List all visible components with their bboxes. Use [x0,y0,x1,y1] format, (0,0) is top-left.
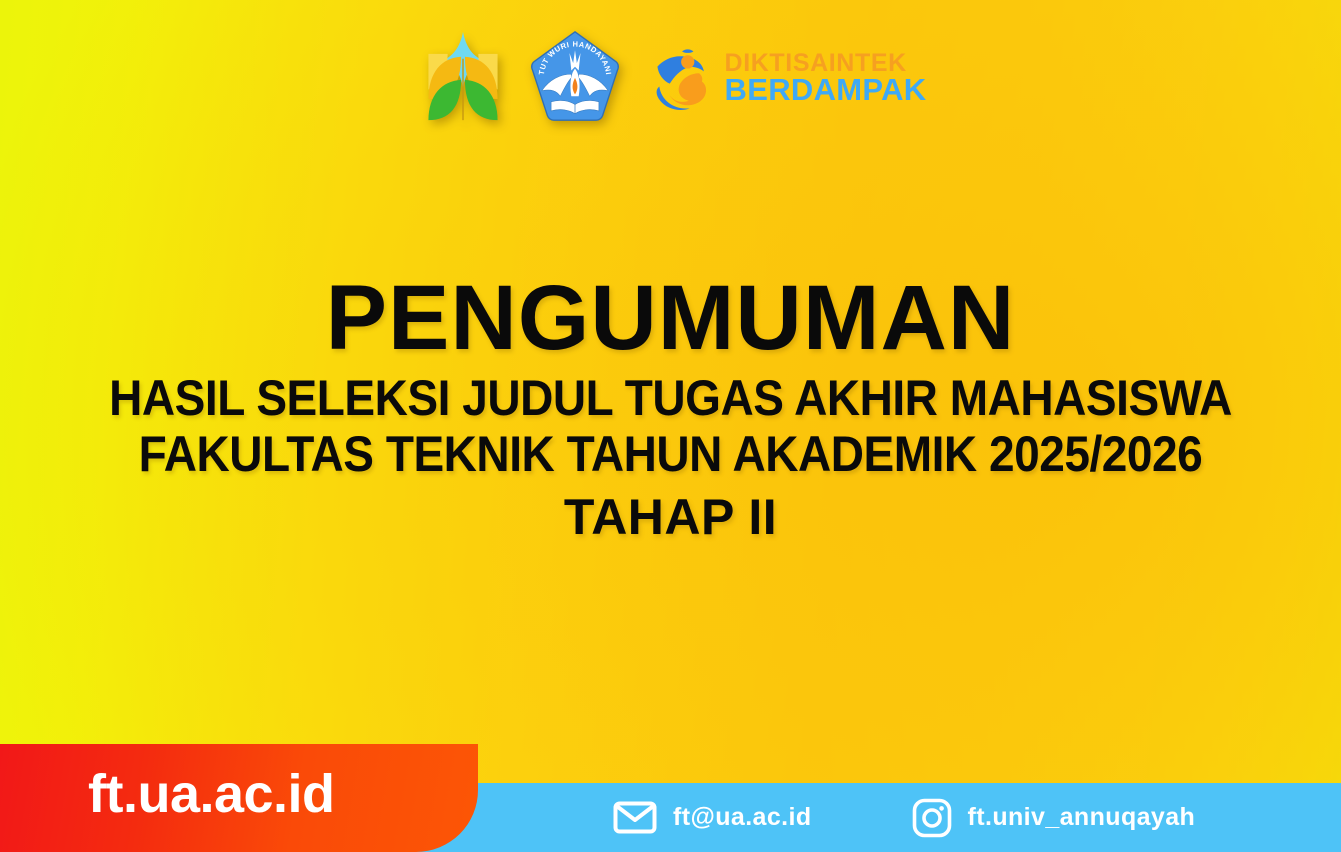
tut-wuri-handayani-logo: TUT WURI HANDAYANI [529,30,621,127]
annuqayah-logo [415,28,511,129]
contact-instagram[interactable]: ft.univ_annuqayah [912,798,1196,838]
instagram-icon [912,798,952,838]
announcement-poster: TUT WURI HANDAYANI [0,0,1341,852]
logo-row: TUT WURI HANDAYANI [0,26,1341,130]
contact-instagram-label: ft.univ_annuqayah [968,803,1196,832]
page-title: PENGUMUMAN [0,272,1341,364]
announcement-subtitle-line-2: FAKULTAS TEKNIK TAHUN AKADEMIK 2025/2026 [54,426,1288,482]
website-url: ft.ua.ac.id [88,767,335,829]
diktisaintek-berdampak-logo: DIKTISAINTEK BERDAMPAK [649,42,927,114]
announcement-phase: TAHAP II [0,488,1341,547]
contact-email[interactable]: ft@ua.ac.id [613,801,812,834]
contact-email-label: ft@ua.ac.id [673,803,812,832]
website-banner[interactable]: ft.ua.ac.id [0,744,478,852]
announcement-headline: PENGUMUMAN HASIL SELEKSI JUDUL TUGAS AKH… [0,272,1341,547]
envelope-icon [613,801,657,834]
diktisaintek-word-bottom: BERDAMPAK [725,75,927,105]
announcement-subtitle-line-1: HASIL SELEKSI JUDUL TUGAS AKHIR MAHASISW… [54,370,1288,426]
